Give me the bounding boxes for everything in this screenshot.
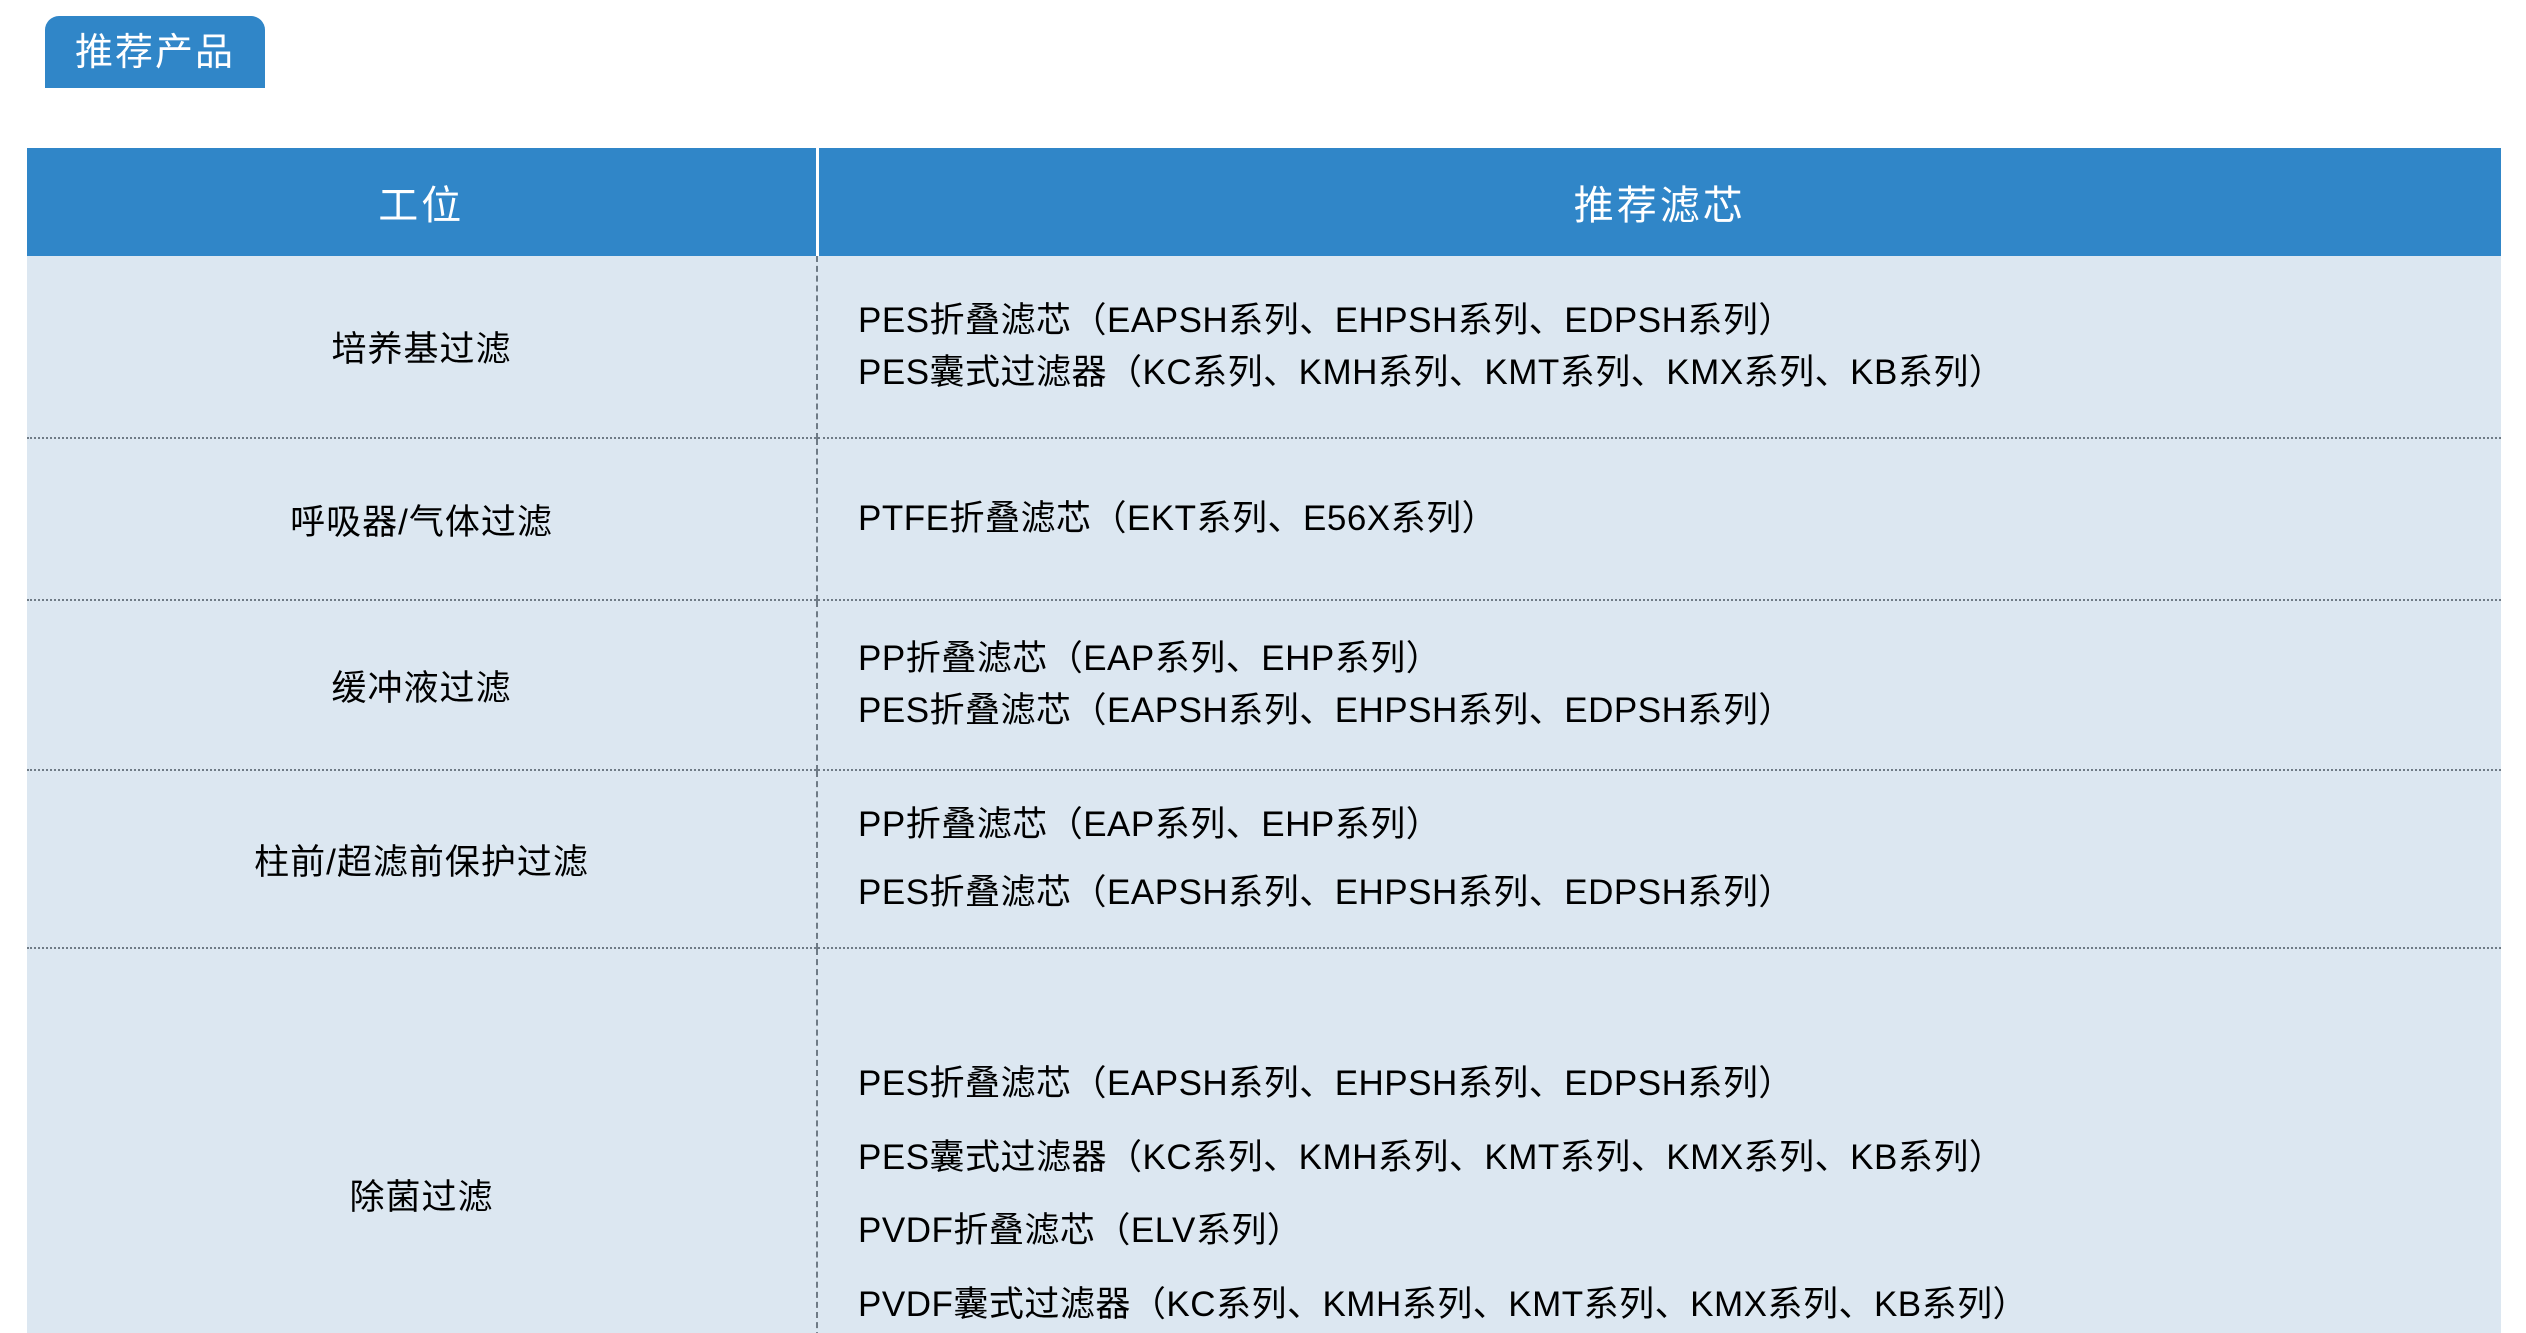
product-line: PVDF囊式过滤器（KC系列、KMH系列、KMT系列、KMX系列、KB系列） bbox=[858, 1268, 2481, 1333]
table-row: 柱前/超滤前保护过滤 PP折叠滤芯（EAP系列、EHP系列） PES折叠滤芯（E… bbox=[27, 770, 2501, 948]
product-line: PVDF折叠滤芯（ELV系列） bbox=[858, 1194, 2481, 1268]
product-line: PP折叠滤芯（EAP系列、EHP系列） bbox=[858, 791, 2481, 859]
cell-station: 缓冲液过滤 bbox=[27, 600, 817, 770]
cell-station: 除菌过滤 bbox=[27, 948, 817, 1333]
column-header-station: 工位 bbox=[27, 148, 817, 256]
product-line: PTFE折叠滤芯（EKT系列、E56X系列） bbox=[858, 493, 2481, 545]
table-body: 培养基过滤 PES折叠滤芯（EAPSH系列、EHPSH系列、EDPSH系列） P… bbox=[27, 256, 2501, 1333]
cell-station: 培养基过滤 bbox=[27, 256, 817, 438]
product-line: PES囊式过滤器（KC系列、KMH系列、KMT系列、KMX系列、KB系列） bbox=[858, 347, 2481, 399]
table-header: 工位 推荐滤芯 bbox=[27, 148, 2501, 256]
cell-station: 呼吸器/气体过滤 bbox=[27, 438, 817, 600]
product-line: PES折叠滤芯（EAPSH系列、EHPSH系列、EDPSH系列） bbox=[858, 295, 2481, 347]
cell-products: PP折叠滤芯（EAP系列、EHP系列） PES折叠滤芯（EAPSH系列、EHPS… bbox=[817, 770, 2501, 948]
recommended-products-panel: 推荐产品 工位 推荐滤芯 培养基过滤 PES折叠滤芯（EAPSH系列、EHPSH… bbox=[0, 0, 2526, 1333]
table-row: 培养基过滤 PES折叠滤芯（EAPSH系列、EHPSH系列、EDPSH系列） P… bbox=[27, 256, 2501, 438]
table-header-row: 工位 推荐滤芯 bbox=[27, 148, 2501, 256]
table-row: 缓冲液过滤 PP折叠滤芯（EAP系列、EHP系列） PES折叠滤芯（EAPSH系… bbox=[27, 600, 2501, 770]
cell-products: PES折叠滤芯（EAPSH系列、EHPSH系列、EDPSH系列） PES囊式过滤… bbox=[817, 948, 2501, 1333]
cell-station: 柱前/超滤前保护过滤 bbox=[27, 770, 817, 948]
column-header-products: 推荐滤芯 bbox=[817, 148, 2501, 256]
product-line: PES折叠滤芯（EAPSH系列、EHPSH系列、EDPSH系列） bbox=[858, 859, 2481, 927]
cell-products: PES折叠滤芯（EAPSH系列、EHPSH系列、EDPSH系列） PES囊式过滤… bbox=[817, 256, 2501, 438]
recommended-products-table: 工位 推荐滤芯 培养基过滤 PES折叠滤芯（EAPSH系列、EHPSH系列、ED… bbox=[27, 148, 2501, 1333]
table-row: 除菌过滤 PES折叠滤芯（EAPSH系列、EHPSH系列、EDPSH系列） PE… bbox=[27, 948, 2501, 1333]
product-line: PES折叠滤芯（EAPSH系列、EHPSH系列、EDPSH系列） bbox=[858, 685, 2481, 737]
table-row: 呼吸器/气体过滤 PTFE折叠滤芯（EKT系列、E56X系列） bbox=[27, 438, 2501, 600]
panel-tab-container: 推荐产品 bbox=[45, 16, 265, 88]
product-line: PP折叠滤芯（EAP系列、EHP系列） bbox=[858, 633, 2481, 685]
tab-recommended-products[interactable]: 推荐产品 bbox=[45, 16, 265, 88]
cell-products: PTFE折叠滤芯（EKT系列、E56X系列） bbox=[817, 438, 2501, 600]
product-line: PES囊式过滤器（KC系列、KMH系列、KMT系列、KMX系列、KB系列） bbox=[858, 1121, 2481, 1195]
product-line: PES折叠滤芯（EAPSH系列、EHPSH系列、EDPSH系列） bbox=[858, 1047, 2481, 1121]
cell-products: PP折叠滤芯（EAP系列、EHP系列） PES折叠滤芯（EAPSH系列、EHPS… bbox=[817, 600, 2501, 770]
